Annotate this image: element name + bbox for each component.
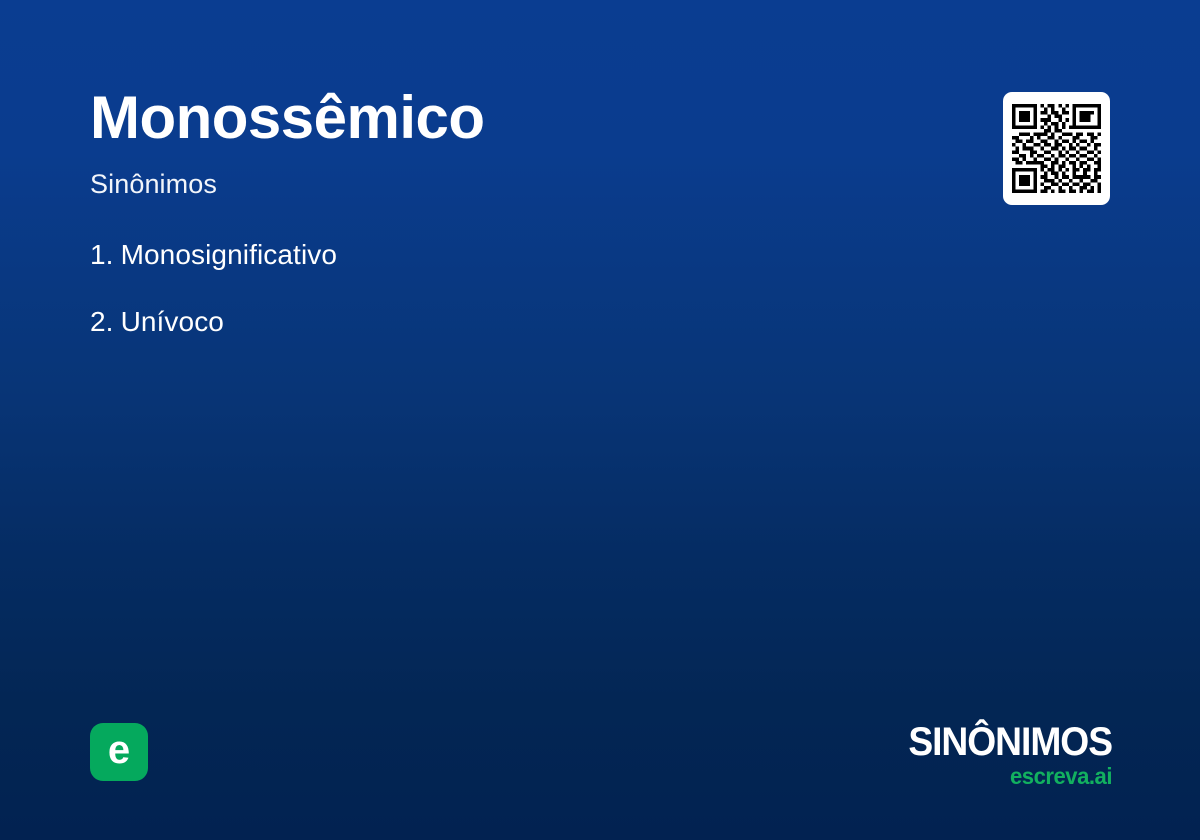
page-title: Monossêmico [90,86,485,150]
qr-code-icon [1012,104,1101,193]
qr-code-panel[interactable] [1003,92,1110,205]
list-item-index: 2. [90,306,114,337]
list-item-label: Unívoco [121,306,224,337]
brand-wordmark[interactable]: SINÔNIMOS escreva.ai [893,722,1112,788]
synonym-list: 1.Monosignificativo 2.Unívoco [90,238,950,338]
brand-badge-letter: e [108,730,130,770]
brand-badge[interactable]: e [90,723,148,781]
synonym-card: Monossêmico Sinônimos 1.Monosignificativ… [0,0,1200,840]
list-item: 1.Monosignificativo [90,238,950,272]
wordmark-subtitle: escreva.ai [902,765,1112,788]
section-label: Sinônimos [90,168,217,200]
list-item-label: Monosignificativo [121,239,337,270]
list-item: 2.Unívoco [90,305,950,339]
list-item-index: 1. [90,239,114,270]
wordmark-title: SINÔNIMOS [908,722,1112,762]
